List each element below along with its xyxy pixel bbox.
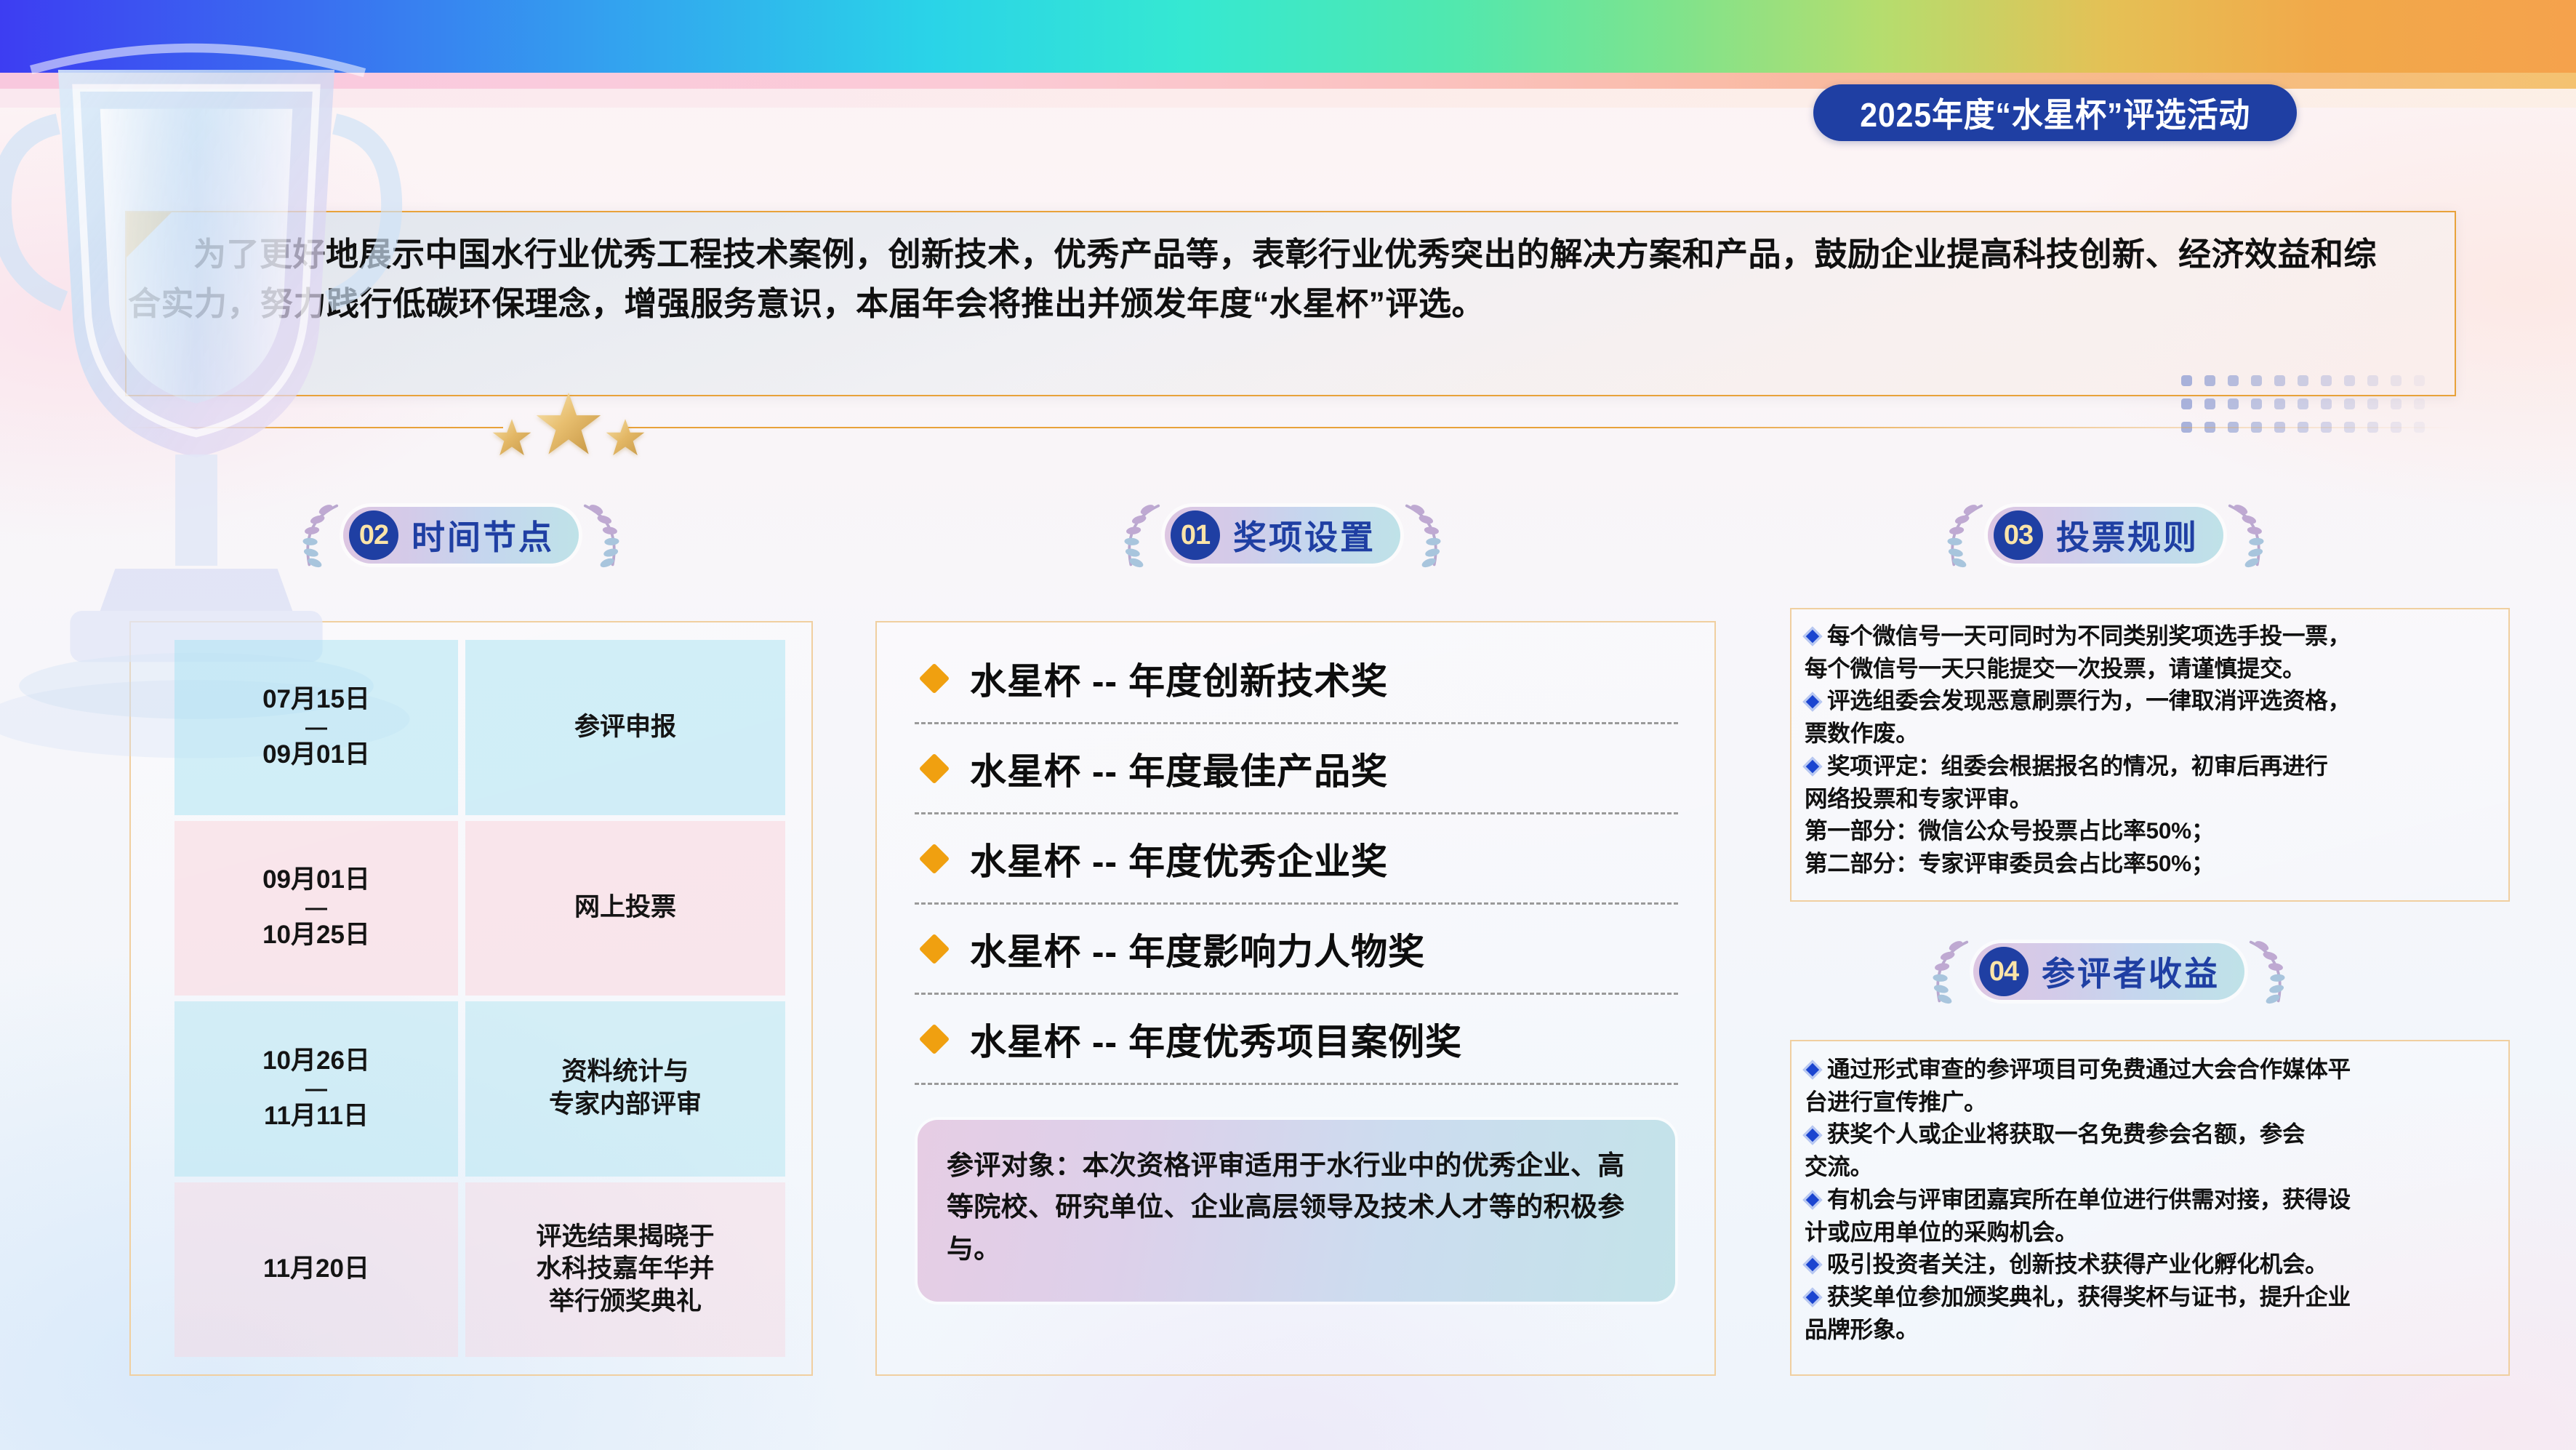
- diamond-bullet-icon: [919, 753, 950, 783]
- laurel-wreath-left-icon: [294, 500, 350, 570]
- intro-text: 为了更好地展示中国水行业优秀工程技术案例，创新技术，优秀产品等，表彰行业优秀突出…: [128, 230, 2396, 329]
- dot: [2251, 398, 2262, 409]
- diamond-bullet-icon: [919, 1023, 950, 1054]
- laurel-wreath-right-icon: [1393, 500, 1450, 570]
- poster-page: 2025年度“水星杯”评选活动 为了更好地展示中国水行业优秀工程技术案例，创新技…: [0, 0, 2576, 1450]
- rule-text: 每个微信号一天只能提交一次投票，请谨慎提交。: [1805, 655, 2306, 681]
- diamond-bullet-icon: [1802, 1125, 1822, 1145]
- diamond-bullet-icon: [1802, 627, 1822, 646]
- section-pill-rules: 03 投票规则: [1988, 507, 2223, 564]
- dot: [2391, 375, 2402, 386]
- section-label-awards: 奖项设置: [1233, 511, 1376, 559]
- section-number-timeline: 02: [349, 510, 398, 560]
- rule-bullet-line: 每个微信号一天可同时为不同类别奖项选手投一票，: [1805, 620, 2497, 652]
- rule-continuation-line: 第一部分：微信公众号投票占比率50%；: [1805, 814, 2497, 847]
- section-label-benefits: 参评者收益: [2042, 948, 2220, 996]
- dot: [2204, 375, 2215, 386]
- dot: [2274, 398, 2285, 409]
- dot: [2321, 398, 2332, 409]
- dot: [2274, 375, 2285, 386]
- timeline-date-cell: 09月01日—10月25日: [174, 821, 458, 996]
- laurel-wreath-right-icon: [571, 500, 628, 570]
- diamond-bullet-icon: [919, 843, 950, 873]
- page-title: 2025年度“水星杯”评选活动: [1860, 89, 2250, 137]
- award-item: 水星杯 -- 年度优秀企业奖: [915, 814, 1678, 905]
- timeline-table: 07月15日—09月01日参评申报09月01日—10月25日网上投票10月26日…: [174, 640, 785, 1357]
- section-pill-awards: 01 奖项设置: [1165, 507, 1400, 564]
- star-icon: [605, 417, 646, 458]
- page-title-badge: 2025年度“水星杯”评选活动: [1813, 84, 2297, 141]
- award-label: 水星杯 -- 年度最佳产品奖: [970, 742, 1388, 795]
- section-header-timeline: 02 时间节点: [294, 500, 628, 570]
- section-number-benefits: 04: [1979, 947, 2029, 996]
- benefit-text: 获奖单位参加颁奖典礼，获得奖杯与证书，提升企业: [1827, 1283, 2351, 1310]
- dot: [2251, 375, 2262, 386]
- section-number-awards: 01: [1171, 510, 1220, 560]
- benefit-bullet-line: 吸引投资者关注，创新技术获得产业化孵化机会。: [1805, 1248, 2497, 1281]
- dot: [2344, 398, 2355, 409]
- rule-text: 票数作废。: [1805, 720, 1919, 746]
- award-label: 水星杯 -- 年度优秀项目案例奖: [970, 1013, 1462, 1065]
- criteria-box: 参评对象：本次资格评审适用于水行业中的优秀企业、高等院校、研究单位、企业高层领导…: [918, 1120, 1675, 1302]
- benefit-text: 计或应用单位的采购机会。: [1805, 1219, 2078, 1245]
- rule-bullet-line: 奖项评定：组委会根据报名的情况，初审后再进行: [1805, 750, 2497, 782]
- criteria-text: 参评对象：本次资格评审适用于水行业中的优秀企业、高等院校、研究单位、企业高层领导…: [947, 1145, 1646, 1270]
- benefit-text: 台进行宣传推广。: [1805, 1089, 1986, 1115]
- timeline-date-cell: 11月20日: [174, 1182, 458, 1358]
- award-item: 水星杯 -- 年度优秀项目案例奖: [915, 995, 1678, 1085]
- award-item: 水星杯 -- 年度创新技术奖: [915, 634, 1678, 724]
- rules-text-block: 每个微信号一天可同时为不同类别奖项选手投一票，每个微信号一天只能提交一次投票，请…: [1805, 620, 2497, 880]
- benefit-text: 通过形式审查的参评项目可免费通过大会合作媒体平: [1827, 1056, 2351, 1082]
- section-pill-timeline: 02 时间节点: [343, 507, 579, 564]
- benefit-bullet-line: 通过形式审查的参评项目可免费通过大会合作媒体平: [1805, 1053, 2497, 1086]
- diamond-bullet-icon: [1802, 757, 1822, 777]
- rule-text: 每个微信号一天可同时为不同类别奖项选手投一票，: [1827, 622, 2351, 649]
- section-label-timeline: 时间节点: [412, 511, 554, 559]
- dot: [2298, 375, 2308, 386]
- laurel-wreath-left-icon: [1115, 500, 1172, 570]
- awards-list: 水星杯 -- 年度创新技术奖水星杯 -- 年度最佳产品奖水星杯 -- 年度优秀企…: [915, 634, 1678, 1085]
- timeline-activity-cell: 参评申报: [465, 640, 785, 815]
- divider-rule-left: [125, 427, 503, 428]
- rule-continuation-line: 第二部分：专家评审委员会占比率50%；: [1805, 847, 2497, 880]
- section-label-rules: 投票规则: [2056, 511, 2199, 559]
- dot: [2228, 398, 2239, 409]
- rule-continuation-line: 网络投票和专家评审。: [1805, 782, 2497, 815]
- rule-continuation-line: 票数作废。: [1805, 717, 2497, 750]
- laurel-wreath-left-icon: [1924, 937, 1981, 1006]
- benefit-text: 品牌形象。: [1805, 1316, 1919, 1342]
- diamond-bullet-icon: [1802, 1255, 1822, 1275]
- benefit-text: 获奖个人或企业将获取一名免费参会名额，参会: [1827, 1121, 2305, 1147]
- section-header-rules: 03 投票规则: [1938, 500, 2273, 570]
- benefit-continuation-line: 交流。: [1805, 1150, 2497, 1183]
- dot: [2298, 398, 2308, 409]
- dot: [2321, 375, 2332, 386]
- three-stars-decoration: [489, 396, 649, 458]
- dot: [2391, 398, 2402, 409]
- dot: [2367, 375, 2378, 386]
- top-gradient-bar: [0, 0, 2576, 73]
- dot: [2204, 398, 2215, 409]
- rule-text: 奖项评定：组委会根据报名的情况，初审后再进行: [1827, 753, 2328, 779]
- dot: [2181, 398, 2192, 409]
- award-item: 水星杯 -- 年度影响力人物奖: [915, 905, 1678, 995]
- diamond-bullet-icon: [919, 933, 950, 964]
- section-header-benefits: 04 参评者收益: [1924, 937, 2294, 1006]
- award-label: 水星杯 -- 年度优秀企业奖: [970, 833, 1388, 885]
- benefit-continuation-line: 计或应用单位的采购机会。: [1805, 1216, 2497, 1249]
- timeline-date-cell: 07月15日—09月01日: [174, 640, 458, 815]
- stars-divider: [125, 426, 2456, 429]
- benefit-continuation-line: 品牌形象。: [1805, 1313, 2497, 1346]
- timeline-activity-cell: 资料统计与专家内部评审: [465, 1001, 785, 1177]
- laurel-wreath-right-icon: [2237, 937, 2294, 1006]
- timeline-activity-cell: 网上投票: [465, 821, 785, 996]
- benefit-bullet-line: 获奖单位参加颁奖典礼，获得奖杯与证书，提升企业: [1805, 1281, 2497, 1313]
- award-label: 水星杯 -- 年度影响力人物奖: [970, 923, 1425, 975]
- benefit-bullet-line: 有机会与评审团嘉宾所在单位进行供需对接，获得设: [1805, 1183, 2497, 1216]
- laurel-wreath-right-icon: [2216, 500, 2273, 570]
- diamond-bullet-icon: [919, 662, 950, 693]
- section-header-awards: 01 奖项设置: [1115, 500, 1450, 570]
- divider-rule-right: [627, 427, 2456, 428]
- rule-bullet-line: 评选组委会发现恶意刷票行为，一律取消评选资格，: [1805, 684, 2497, 717]
- benefit-continuation-line: 台进行宣传推广。: [1805, 1086, 2497, 1118]
- star-icon: [535, 391, 602, 458]
- laurel-wreath-left-icon: [1938, 500, 1995, 570]
- dot: [2414, 398, 2425, 409]
- benefit-text: 有机会与评审团嘉宾所在单位进行供需对接，获得设: [1827, 1186, 2351, 1212]
- diamond-bullet-icon: [1802, 1190, 1822, 1210]
- benefits-text-block: 通过形式审查的参评项目可免费通过大会合作媒体平台进行宣传推广。获奖个人或企业将获…: [1805, 1053, 2497, 1345]
- dot: [2181, 375, 2192, 386]
- dot: [2344, 375, 2355, 386]
- star-icon: [491, 417, 532, 458]
- timeline-date-cell: 10月26日—11月11日: [174, 1001, 458, 1177]
- benefit-text: 交流。: [1805, 1153, 1873, 1179]
- diamond-bullet-icon: [1802, 1288, 1822, 1307]
- benefit-text: 吸引投资者关注，创新技术获得产业化孵化机会。: [1827, 1251, 2328, 1277]
- rule-text: 第二部分：专家评审委员会占比率50%；: [1805, 850, 2214, 876]
- section-number-rules: 03: [1994, 510, 2043, 560]
- dot: [2228, 375, 2239, 386]
- rule-text: 第一部分：微信公众号投票占比率50%；: [1805, 817, 2214, 844]
- award-item: 水星杯 -- 年度最佳产品奖: [915, 724, 1678, 814]
- benefit-bullet-line: 获奖个人或企业将获取一名免费参会名额，参会: [1805, 1118, 2497, 1150]
- section-pill-benefits: 04 参评者收益: [1973, 943, 2244, 1000]
- diamond-bullet-icon: [1802, 1060, 1822, 1080]
- award-label: 水星杯 -- 年度创新技术奖: [970, 652, 1388, 705]
- diamond-bullet-icon: [1802, 692, 1822, 711]
- rule-text: 网络投票和专家评审。: [1805, 785, 2032, 812]
- dot: [2367, 398, 2378, 409]
- rule-text: 评选组委会发现恶意刷票行为，一律取消评选资格，: [1827, 687, 2351, 713]
- timeline-activity-cell: 评选结果揭晓于水科技嘉年华并举行颁奖典礼: [465, 1182, 785, 1358]
- rule-continuation-line: 每个微信号一天只能提交一次投票，请谨慎提交。: [1805, 652, 2497, 685]
- dot: [2414, 375, 2425, 386]
